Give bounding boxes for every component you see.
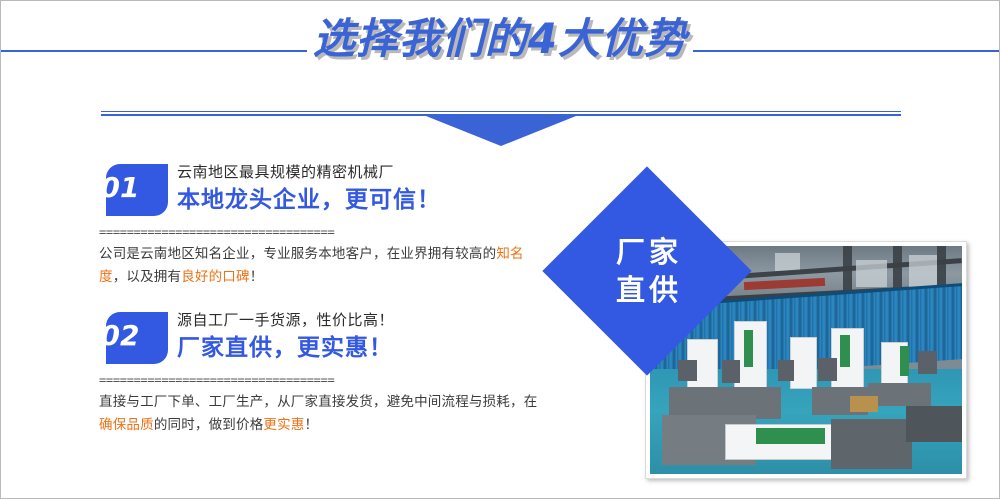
photo-crate: [850, 396, 878, 412]
feature-number-label: 02: [89, 309, 151, 361]
factory-direct-line1: 厂家: [612, 233, 682, 271]
body-text-part1: 公司是云南地区知名企业，专业服务本地客户，在业界拥有较高的: [99, 246, 496, 262]
page-title: 选择我们的4大优势: [1, 10, 999, 68]
photo-machine-column: [790, 337, 817, 389]
photo-machine-rail: [900, 346, 909, 376]
feature-heading-group: 源自工厂一手货源，性价比高！ 厂家直供，更实惠！: [177, 309, 557, 365]
feature-heading-group: 云南地区最具规模的精密机械厂 本地龙头企业，更可信！: [177, 161, 557, 217]
photo-machine-rail: [840, 335, 849, 367]
feature-item-02: 02 源自工厂一手货源，性价比高！ 厂家直供，更实惠！ ============…: [89, 309, 559, 437]
body-text-part2: ，以及拥有: [113, 269, 182, 285]
photo-casting: [831, 419, 912, 469]
page-title-text: 选择我们的4大优势: [307, 10, 693, 68]
factory-direct-label: 厂家 直供: [573, 197, 721, 345]
photo-machine-head: [918, 351, 937, 374]
feature-subtitle: 云南地区最具规模的精密机械厂: [177, 161, 557, 183]
feature-header: 02 源自工厂一手货源，性价比高！ 厂家直供，更实惠！: [89, 309, 559, 371]
body-text-highlight2: 更实惠: [263, 417, 304, 433]
feature-headline: 本地龙头企业，更可信！: [177, 183, 557, 217]
photo-machine-rail: [744, 330, 753, 366]
body-text-highlight1: 确保品质: [99, 417, 154, 433]
features-column: 01 云南地区最具规模的精密机械厂 本地龙头企业，更可信！ ==========…: [89, 161, 559, 437]
photo-machine-head: [778, 360, 794, 381]
body-text-part1: 直接与工厂下单、工厂生产，从厂家直接发货，避免中间流程与损耗，在: [99, 394, 537, 410]
photo-window: [856, 260, 887, 287]
promo-page: 选择我们的4大优势 01 云南地区最具规模的精密机械厂 本地龙头企业，更可信！ …: [0, 0, 1000, 499]
photo-green-guide: [756, 428, 825, 444]
feature-body-text: 直接与工厂下单、工厂生产，从厂家直接发货，避免中间流程与损耗，在确保品质的同时，…: [99, 391, 551, 437]
photo-pipe: [906, 406, 962, 442]
photo-machine-head: [678, 360, 697, 381]
feature-body-text: 公司是云南地区知名企业，专业服务本地客户，在业界拥有较高的知名度，以及拥有良好的…: [99, 243, 551, 289]
body-text-part3: ！: [250, 269, 264, 285]
feature-number-label: 01: [89, 161, 151, 213]
photo-machine-head: [722, 360, 741, 383]
divider-line-top: [101, 111, 901, 112]
body-text-part2: 的同时，做到价格: [154, 417, 264, 433]
chevron-down-icon: [426, 116, 576, 146]
feature-item-01: 01 云南地区最具规模的精密机械厂 本地龙头企业，更可信！ ==========…: [89, 161, 559, 289]
photo-window: [909, 255, 937, 287]
dashed-rule: ==================================: [99, 227, 529, 237]
feature-header: 01 云南地区最具规模的精密机械厂 本地龙头企业，更可信！: [89, 161, 559, 223]
body-text-highlight2: 良好的口碑: [181, 269, 250, 285]
body-text-part3: ！: [305, 417, 319, 433]
feature-subtitle: 源自工厂一手货源，性价比高！: [177, 309, 557, 331]
dashed-rule: ==================================: [99, 375, 529, 385]
feature-headline: 厂家直供，更实惠！: [177, 331, 557, 365]
factory-direct-line2: 直供: [612, 271, 682, 309]
photo-machine-head: [818, 358, 837, 381]
photo-skylight: [775, 253, 800, 271]
